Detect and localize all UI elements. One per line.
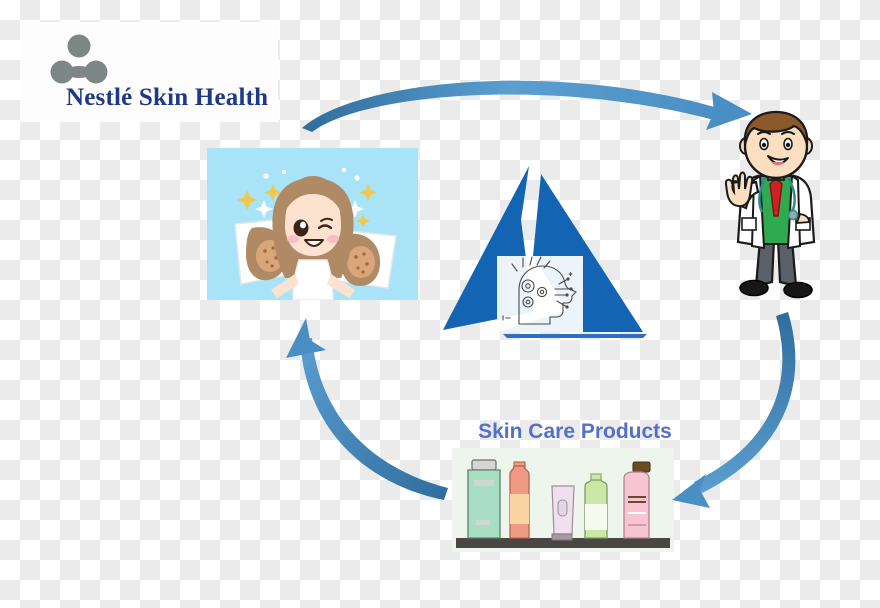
ai-brain-gears-icon bbox=[497, 256, 583, 332]
bottle-lime bbox=[585, 474, 607, 538]
bottle-green-tall bbox=[468, 460, 500, 538]
patient-results-image bbox=[207, 148, 418, 300]
products-label: Skin Care Products bbox=[455, 420, 695, 444]
nestle-three-dots-icon bbox=[48, 34, 110, 84]
brand-name: Nestlé Skin Health bbox=[66, 84, 296, 112]
doctor-character-icon bbox=[716, 110, 836, 310]
bottle-coral-round bbox=[510, 462, 529, 538]
arrow-doctor-to-products bbox=[672, 312, 795, 508]
skin-care-products-image bbox=[452, 448, 674, 552]
diagram-canvas: Nestlé Skin Health bbox=[0, 0, 880, 608]
arrow-products-to-patient bbox=[286, 318, 448, 500]
tube-white bbox=[552, 486, 574, 540]
azure-logo-icon bbox=[437, 160, 663, 340]
brand-panel: Nestlé Skin Health bbox=[20, 22, 278, 122]
bottle-pink bbox=[624, 462, 650, 538]
arrow-patient-to-doctor bbox=[302, 81, 752, 132]
